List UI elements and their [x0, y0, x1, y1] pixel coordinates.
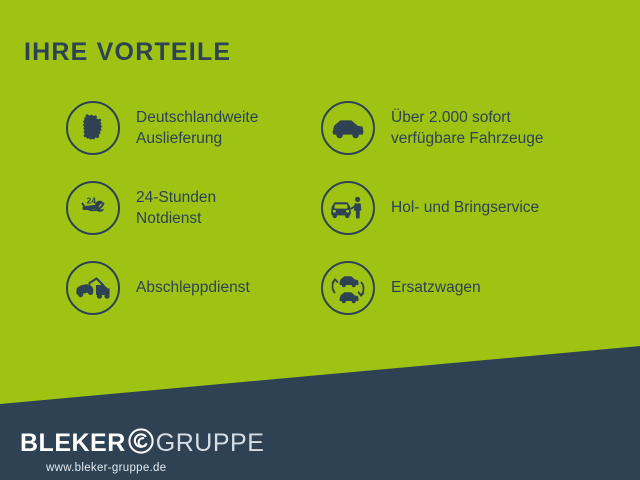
page-title: IHRE VORTEILE [24, 38, 231, 67]
benefit-item-deutschlandweite-auslieferung[interactable]: Deutschlandweite Auslieferung [66, 100, 258, 156]
24-hour-wrench-icon: 24 [66, 181, 120, 235]
diagonal-dark-band [0, 0, 640, 480]
two-cars-exchange-icon [321, 261, 375, 315]
benefit-item-abschleppdienst[interactable]: Abschleppdienst [66, 260, 250, 316]
svg-text:24: 24 [87, 196, 97, 206]
slide-canvas: IHRE VORTEILE Deutschlandweite Ausliefer… [0, 0, 640, 480]
tow-truck-icon [66, 261, 120, 315]
spiral-circle-icon [127, 427, 155, 460]
logo-url[interactable]: www.bleker-gruppe.de [46, 462, 264, 474]
benefit-label: Hol- und Bringservice [391, 197, 539, 218]
benefit-item-24-stunden-notdienst[interactable]: 24 24-Stunden Notdienst [66, 180, 216, 236]
benefit-label: Über 2.000 sofort verfügbare Fahrzeuge [391, 107, 544, 150]
benefit-item-ersatzwagen[interactable]: Ersatzwagen [321, 260, 481, 316]
germany-map-icon [66, 101, 120, 155]
company-logo[interactable]: BLEKER GRUPPE www.bleker-gruppe.de [20, 428, 264, 474]
logo-wordmark-row: BLEKER GRUPPE [20, 428, 264, 458]
car-icon [321, 101, 375, 155]
benefit-label: Abschleppdienst [136, 277, 250, 298]
benefit-item-hol-und-bringservice[interactable]: Hol- und Bringservice [321, 180, 539, 236]
benefit-label: 24-Stunden Notdienst [136, 187, 216, 230]
benefit-label: Ersatzwagen [391, 277, 481, 298]
logo-secondary-text: GRUPPE [156, 431, 265, 456]
logo-primary-text: BLEKER [20, 431, 126, 456]
benefit-label: Deutschlandweite Auslieferung [136, 107, 258, 150]
car-with-person-icon [321, 181, 375, 235]
benefit-item-verfuegbare-fahrzeuge[interactable]: Über 2.000 sofort verfügbare Fahrzeuge [321, 100, 544, 156]
